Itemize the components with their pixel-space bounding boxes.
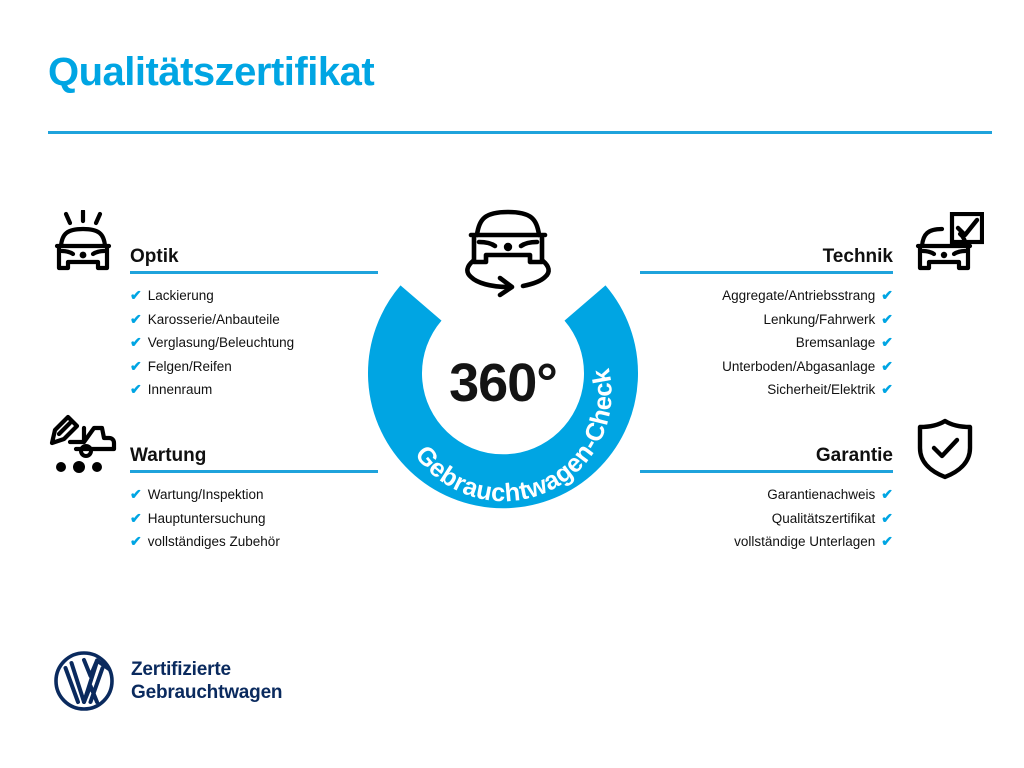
- section-optik: Optik ✔ Lackierung ✔ Karosserie/Anbautei…: [130, 236, 378, 402]
- section-technik: Technik Aggregate/Antriebsstrang ✔ Lenku…: [640, 236, 893, 402]
- check-icon: ✔: [130, 507, 142, 531]
- list-item-label: Karosserie/Anbauteile: [148, 308, 280, 332]
- list-item: Garantienachweis ✔: [640, 483, 893, 507]
- certificate-page: Qualitätszertifikat Optik: [0, 0, 1024, 768]
- list-item-label: Bremsanlage: [796, 331, 876, 355]
- list-item: ✔ Hauptuntersuchung: [130, 507, 378, 531]
- shield-check-icon: [915, 418, 975, 480]
- car-service-pencil-icon: [46, 414, 120, 476]
- garantie-icon-box: [915, 418, 975, 480]
- list-item: Qualitätszertifikat ✔: [640, 507, 893, 531]
- list-item-label: Lenkung/Fahrwerk: [763, 308, 875, 332]
- optik-item-list: ✔ Lackierung ✔ Karosserie/Anbauteile ✔ V…: [130, 284, 378, 402]
- footer-logo: Zertifizierte Gebrauchtwagen: [53, 650, 282, 712]
- check-icon: ✔: [130, 331, 142, 355]
- list-item: ✔ Karosserie/Anbauteile: [130, 308, 378, 332]
- check-icon: ✔: [881, 308, 893, 332]
- list-item-label: Aggregate/Antriebsstrang: [722, 284, 875, 308]
- list-item-label: Hauptuntersuchung: [148, 507, 266, 531]
- list-item: ✔ Lackierung: [130, 284, 378, 308]
- garantie-divider: [640, 470, 893, 473]
- list-item-label: Qualitätszertifikat: [772, 507, 876, 531]
- list-item: ✔ vollständiges Zubehör: [130, 530, 378, 554]
- technik-title: Technik: [823, 246, 893, 268]
- check-icon: ✔: [881, 331, 893, 355]
- badge-center-label: 360°: [367, 352, 639, 414]
- page-title: Qualitätszertifikat: [48, 50, 374, 94]
- check-icon: ✔: [130, 355, 142, 379]
- list-item: Lenkung/Fahrwerk ✔: [640, 308, 893, 332]
- check-icon: ✔: [881, 284, 893, 308]
- optik-divider: [130, 271, 378, 274]
- check-icon: ✔: [881, 507, 893, 531]
- list-item-label: vollständiges Zubehör: [148, 530, 280, 554]
- list-item: Bremsanlage ✔: [640, 331, 893, 355]
- list-item-label: Unterboden/Abgasanlage: [722, 355, 875, 379]
- wartung-divider: [130, 470, 378, 473]
- optik-icon-box: [46, 210, 120, 276]
- check-icon: ✔: [881, 378, 893, 402]
- list-item-label: Felgen/Reifen: [148, 355, 232, 379]
- list-item: Unterboden/Abgasanlage ✔: [640, 355, 893, 379]
- section-garantie: Garantie Garantienachweis ✔ Qualitätszer…: [640, 435, 893, 554]
- list-item: vollständige Unterlagen ✔: [640, 530, 893, 554]
- list-item: ✔ Verglasung/Beleuchtung: [130, 331, 378, 355]
- list-item-label: Lackierung: [148, 284, 214, 308]
- technik-divider: [640, 271, 893, 274]
- garantie-title: Garantie: [816, 445, 893, 467]
- check-icon: ✔: [130, 378, 142, 402]
- technik-icon-box: [908, 212, 984, 276]
- title-divider: [48, 131, 992, 134]
- check-icon: ✔: [130, 284, 142, 308]
- car-front-checkbox-icon: [908, 212, 984, 276]
- list-item: Aggregate/Antriebsstrang ✔: [640, 284, 893, 308]
- list-item-label: Innenraum: [148, 378, 213, 402]
- list-item: Sicherheit/Elektrik ✔: [640, 378, 893, 402]
- list-item-label: Garantienachweis: [767, 483, 875, 507]
- wartung-header: Wartung: [130, 435, 378, 473]
- list-item: ✔ Innenraum: [130, 378, 378, 402]
- footer-logo-line2: Gebrauchtwagen: [131, 681, 282, 704]
- check-icon: ✔: [881, 355, 893, 379]
- check-icon: ✔: [881, 483, 893, 507]
- technik-header: Technik: [640, 236, 893, 274]
- check-icon: ✔: [130, 308, 142, 332]
- wartung-item-list: ✔ Wartung/Inspektion ✔ Hauptuntersuchung…: [130, 483, 378, 554]
- footer-logo-text: Zertifizierte Gebrauchtwagen: [131, 658, 282, 704]
- list-item-label: vollständige Unterlagen: [734, 530, 875, 554]
- check-icon: ✔: [881, 530, 893, 554]
- list-item-label: Verglasung/Beleuchtung: [148, 331, 294, 355]
- footer-logo-line1: Zertifizierte: [131, 658, 282, 681]
- volkswagen-logo-icon: [53, 650, 115, 712]
- list-item-label: Sicherheit/Elektrik: [767, 378, 875, 402]
- optik-header: Optik: [130, 236, 378, 274]
- list-item: ✔ Wartung/Inspektion: [130, 483, 378, 507]
- car-rotation-360-icon: [455, 199, 561, 299]
- list-item-label: Wartung/Inspektion: [148, 483, 264, 507]
- list-item: ✔ Felgen/Reifen: [130, 355, 378, 379]
- section-wartung: Wartung ✔ Wartung/Inspektion ✔ Hauptunte…: [130, 435, 378, 554]
- check-icon: ✔: [130, 483, 142, 507]
- car-front-shine-icon: [46, 210, 120, 276]
- wartung-title: Wartung: [130, 445, 206, 467]
- optik-title: Optik: [130, 246, 179, 268]
- garantie-item-list: Garantienachweis ✔ Qualitätszertifikat ✔…: [640, 483, 893, 554]
- check-icon: ✔: [130, 530, 142, 554]
- garantie-header: Garantie: [640, 435, 893, 473]
- technik-item-list: Aggregate/Antriebsstrang ✔ Lenkung/Fahrw…: [640, 284, 893, 402]
- wartung-icon-box: [46, 414, 120, 476]
